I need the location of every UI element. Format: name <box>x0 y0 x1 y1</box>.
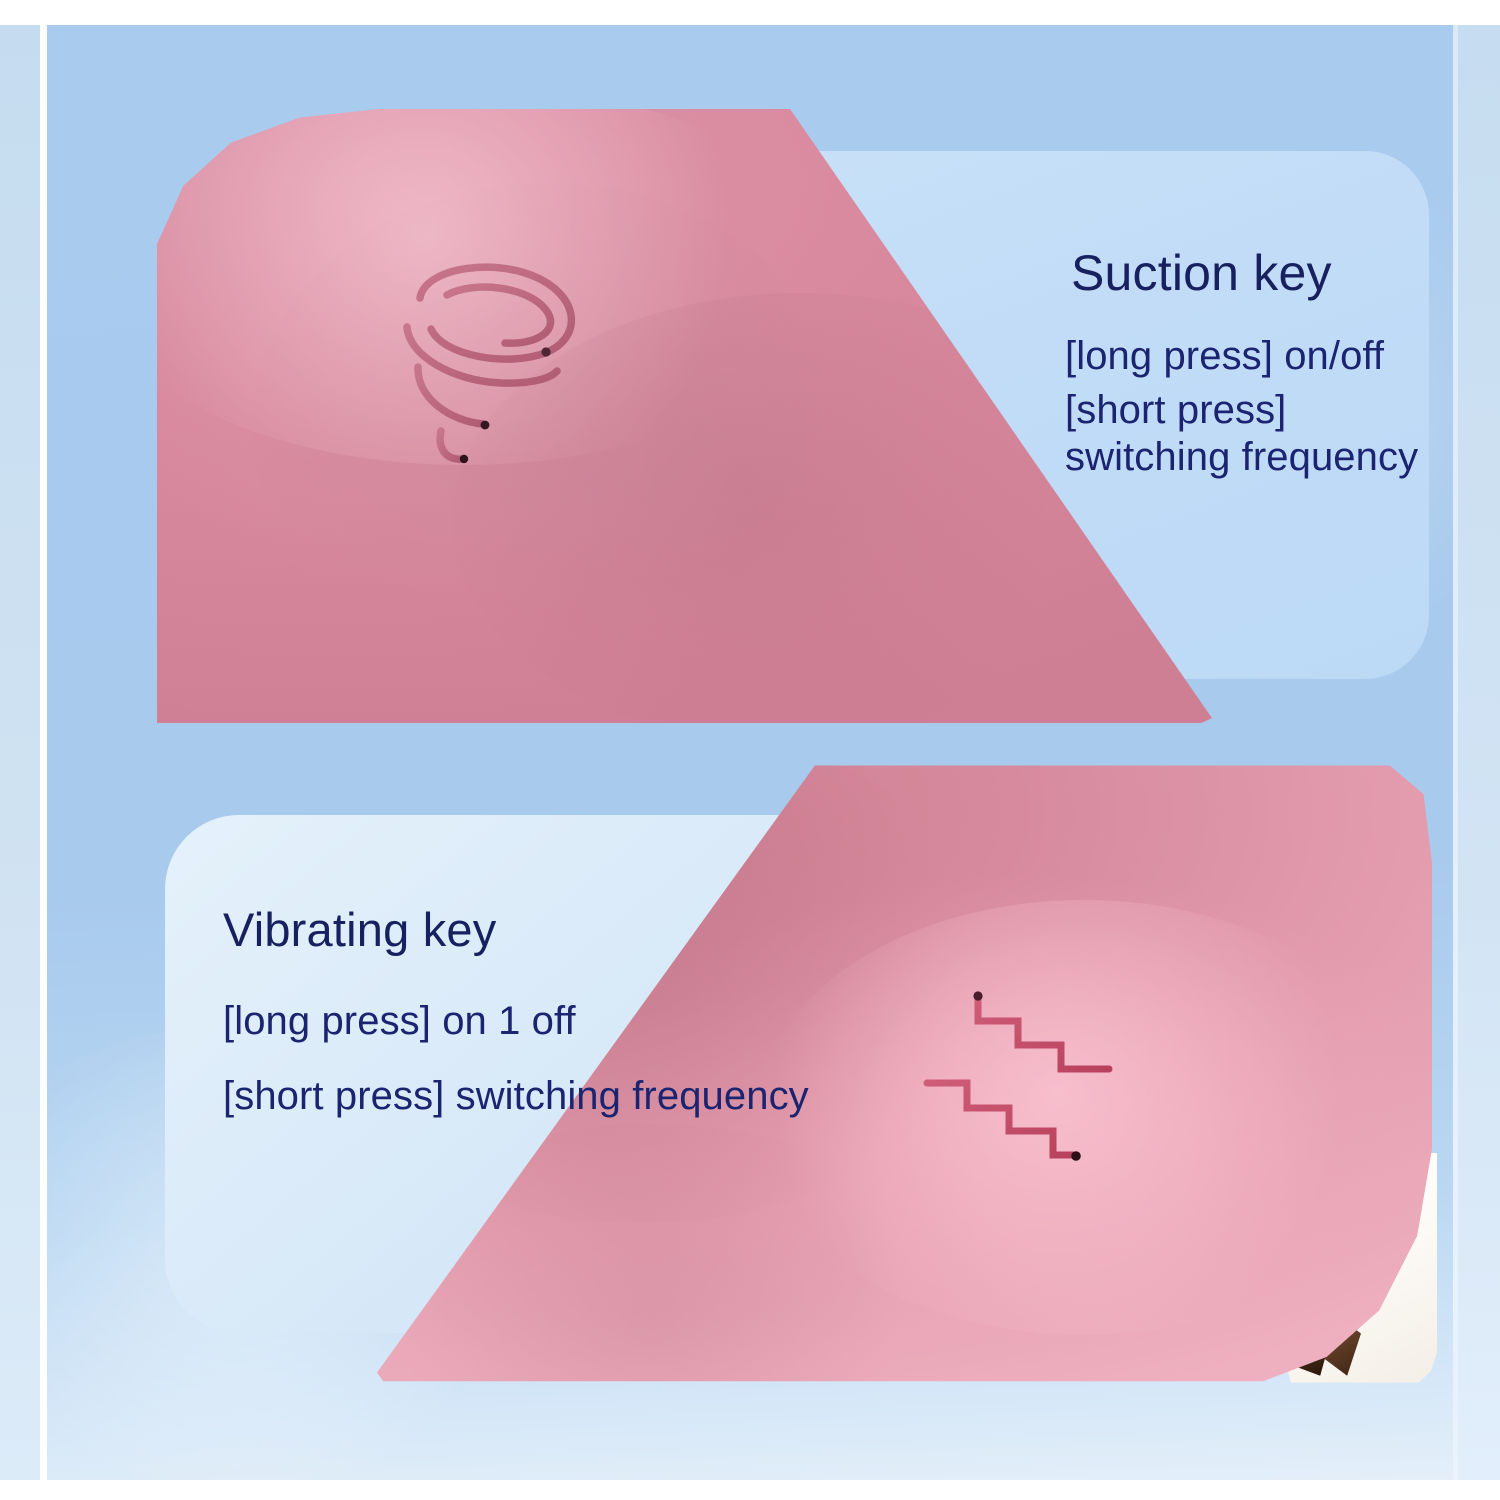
suction-text-block: Suction key [long press] on/off [short p… <box>1065 247 1435 479</box>
vibrating-line-2: [short press] switching frequency <box>223 1074 923 1119</box>
frame-strip-right <box>1458 25 1500 1480</box>
suction-line-1: [long press] on/off <box>1065 334 1435 379</box>
blue-canvas: Suction key [long press] on/off [short p… <box>47 25 1453 1480</box>
vibration-zigzag-icon <box>913 973 1123 1171</box>
suction-swirl-icon <box>385 253 600 483</box>
frame-strip-left <box>0 25 40 1480</box>
frame-band-bottom <box>0 1480 1500 1500</box>
frame-seam-left <box>40 25 47 1480</box>
vibrating-text-block: Vibrating key [long press] on 1 off [sho… <box>223 905 923 1118</box>
suction-heading: Suction key <box>1071 247 1435 300</box>
suction-line-3: switching frequency <box>1065 435 1435 480</box>
frame-seam-right <box>1453 25 1458 1480</box>
infographic-stage: Suction key [long press] on/off [short p… <box>0 0 1500 1500</box>
vibrating-heading: Vibrating key <box>223 905 923 955</box>
frame-band-top <box>0 0 1500 25</box>
suction-line-2: [short press] <box>1065 388 1435 433</box>
vibrating-line-1: [long press] on 1 off <box>223 999 923 1044</box>
